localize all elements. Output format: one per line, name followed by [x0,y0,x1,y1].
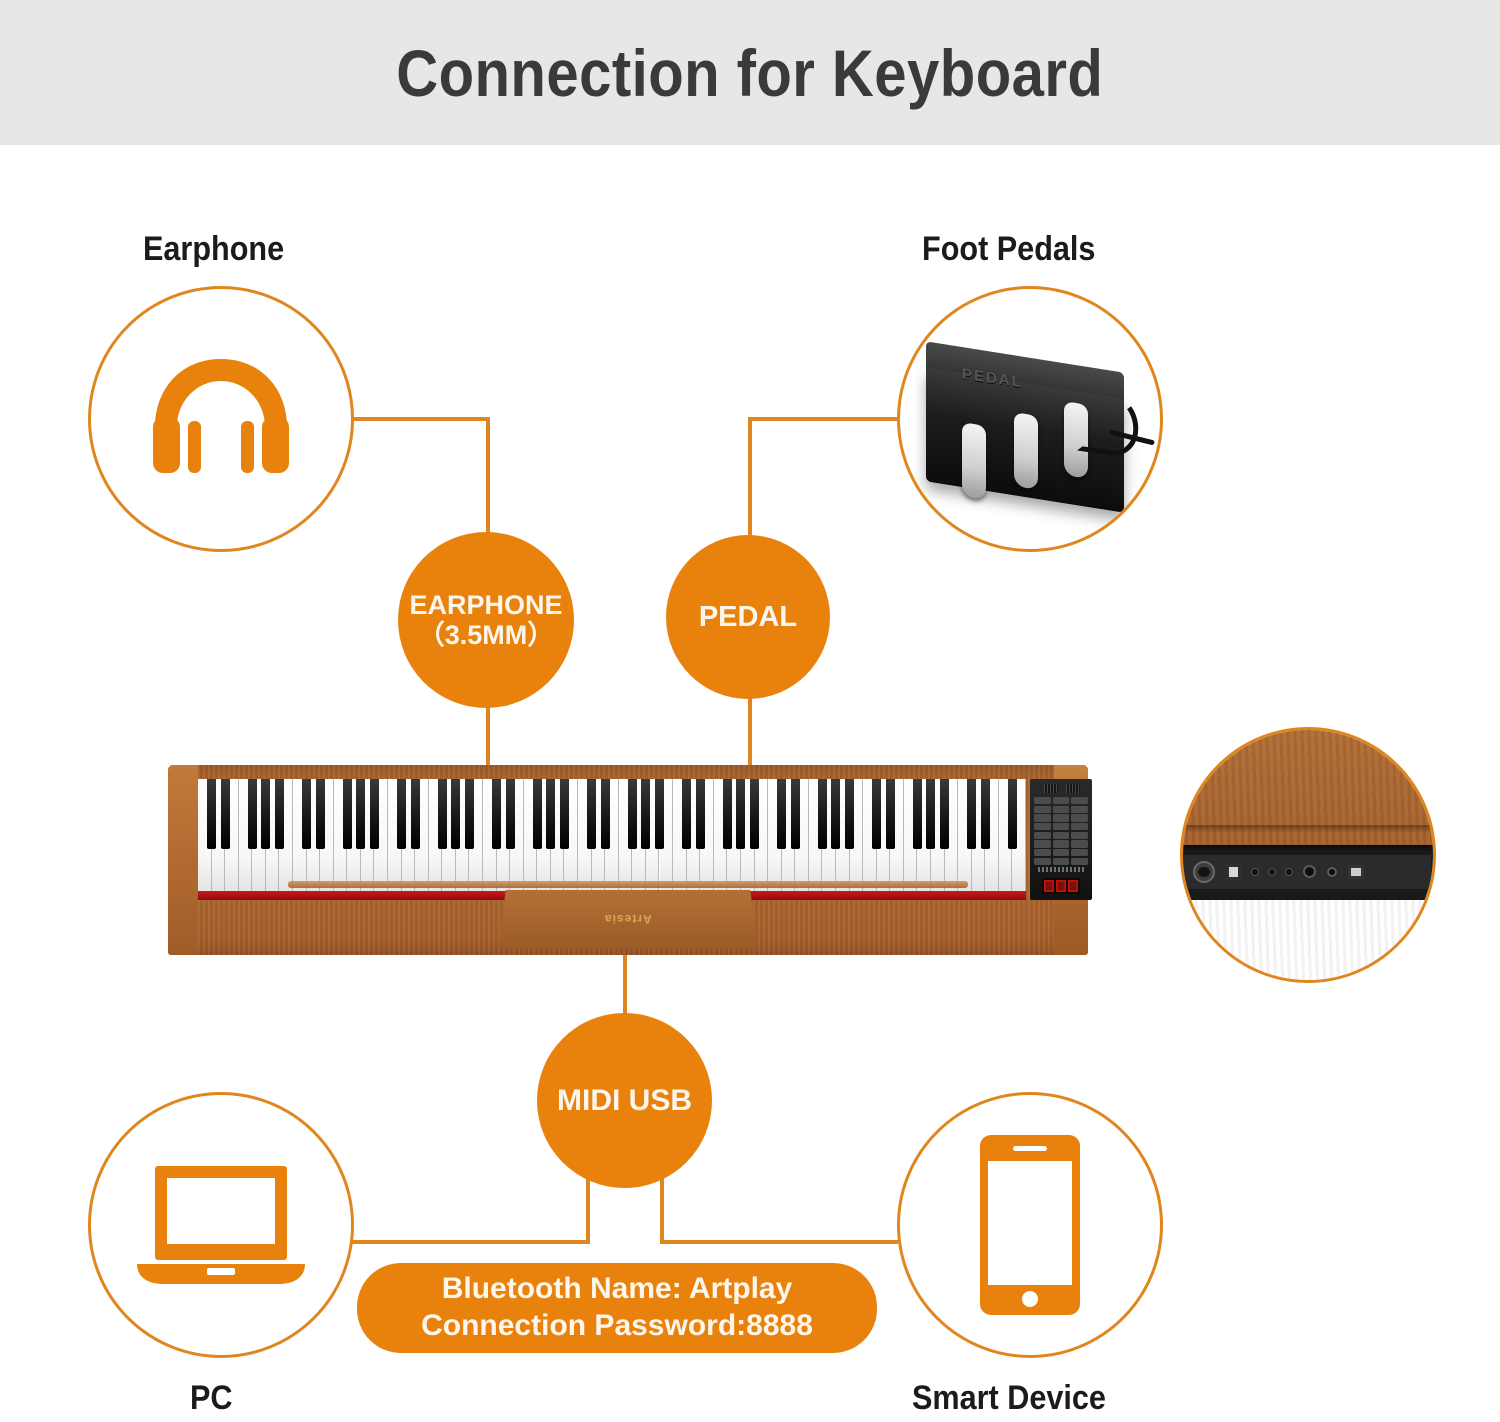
control-panel-button[interactable] [1053,814,1070,821]
piano-black-key[interactable] [560,779,569,849]
piano-brand-logo: Artesia [604,912,652,926]
pedal-pad-center [1014,412,1038,490]
control-panel-button[interactable] [1071,806,1088,813]
control-panel-button[interactable] [1071,797,1088,804]
control-panel-button[interactable] [1034,814,1051,821]
control-panel-button-grid[interactable] [1034,797,1088,865]
foot-pedal-photo: PEDAL [900,289,1160,549]
piano-black-key[interactable] [872,779,881,849]
control-panel-button[interactable] [1034,858,1051,865]
piano-black-key[interactable] [736,779,745,849]
piano-black-key[interactable] [343,779,352,849]
control-panel-button[interactable] [1071,858,1088,865]
speaker-grille-left-icon [1044,784,1058,793]
connector-midi-down-right [660,1178,664,1244]
led-digit [1056,880,1066,892]
pc-node-circle[interactable] [88,1092,354,1358]
piano-black-key[interactable] [207,779,216,849]
badge-midi-usb-port[interactable]: MIDI USB [537,1013,712,1188]
piano-black-key[interactable] [438,779,447,849]
piano-black-key[interactable] [723,779,732,849]
led-digit [1068,880,1078,892]
control-panel-button[interactable] [1034,806,1051,813]
control-panel-button[interactable] [1053,840,1070,847]
piano-black-key[interactable] [221,779,230,849]
piano-black-key[interactable] [533,779,542,849]
digital-piano-keyboard[interactable]: Artesia [168,765,1088,955]
piano-black-key[interactable] [696,779,705,849]
connector-earphone-horizontal [351,417,490,421]
bluetooth-name-text: Bluetooth Name: Artplay [442,1271,793,1308]
rear-io-plate [1180,845,1436,900]
piano-black-key[interactable] [261,779,270,849]
piano-black-key[interactable] [913,779,922,849]
screw-icon [1435,849,1436,857]
rear-io-connector-row [1180,855,1431,889]
badge-earphone-line1: EARPHONE [409,590,562,620]
connector-pedal-down [748,417,752,537]
speaker-grille-right-icon [1066,784,1080,793]
page-title: Connection for Keyboard [396,35,1103,111]
piano-black-key[interactable] [275,779,284,849]
piano-black-key[interactable] [655,779,664,849]
piano-black-key[interactable] [831,779,840,849]
piano-black-key[interactable] [601,779,610,849]
headphones-icon [141,349,301,489]
midi-din-port-icon[interactable] [1193,861,1215,883]
control-panel-button[interactable] [1053,858,1070,865]
badge-midi-usb-label: MIDI USB [557,1084,692,1118]
badge-pedal-label: PEDAL [699,601,797,633]
piano-black-key[interactable] [546,779,555,849]
piano-music-shelf: Artesia [498,890,758,948]
control-panel-button[interactable] [1053,823,1070,830]
piano-black-key[interactable] [397,779,406,849]
rear-panel-shadow [1183,825,1433,833]
bluetooth-password-text: Connection Password:8888 [421,1308,813,1345]
piano-black-key[interactable] [465,779,474,849]
control-panel-button[interactable] [1034,823,1051,830]
header-banner: Connection for Keyboard [0,0,1500,145]
headphone-jack-icon[interactable] [1303,865,1316,878]
screw-hole-icon [1269,869,1275,875]
piano-black-key[interactable] [926,779,935,849]
control-panel-button[interactable] [1071,814,1088,821]
piano-black-key[interactable] [750,779,759,849]
power-port-icon[interactable] [1348,865,1364,879]
screw-hole-icon [1286,869,1292,875]
piano-black-key[interactable] [248,779,257,849]
piano-black-key[interactable] [628,779,637,849]
infographic-canvas: Connection for Keyboard Earphone Foot Pe… [0,0,1500,1422]
screw-icon [1180,888,1181,896]
piano-control-panel[interactable] [1030,779,1092,900]
control-panel-button[interactable] [1034,832,1051,839]
piano-black-key[interactable] [940,779,949,849]
control-panel-brandmark [1038,867,1084,872]
connector-pedal-horizontal [748,417,900,421]
piano-black-key[interactable] [587,779,596,849]
piano-black-key[interactable] [791,779,800,849]
piano-black-key[interactable] [451,779,460,849]
usb-b-port-icon[interactable] [1226,864,1241,880]
foot-pedals-node-circle[interactable]: PEDAL [897,286,1163,552]
piano-black-key[interactable] [886,779,895,849]
piano-keybed[interactable] [198,779,1026,891]
piano-black-key[interactable] [845,779,854,849]
control-panel-button[interactable] [1071,849,1088,856]
smartphone-icon [975,1131,1085,1319]
led-digit [1044,880,1054,892]
smart-device-node-circle[interactable] [897,1092,1163,1358]
piano-left-cheek [168,765,198,955]
control-panel-button[interactable] [1034,797,1051,804]
led-display [1042,878,1080,894]
control-panel-button[interactable] [1034,849,1051,856]
control-panel-button[interactable] [1034,840,1051,847]
badge-earphone-port[interactable]: EARPHONE （3.5MM） [398,532,574,708]
control-panel-button[interactable] [1053,832,1070,839]
control-panel-button[interactable] [1053,806,1070,813]
badge-earphone-line2: （3.5MM） [409,620,562,650]
connector-midi-to-pc [352,1240,590,1244]
control-panel-button[interactable] [1071,840,1088,847]
smart-device-caption: Smart Device [912,1379,1106,1418]
pc-caption: PC [190,1379,233,1418]
connector-midi-down-left [586,1178,590,1244]
pedal-cable-icon [1077,389,1143,458]
piano-black-key[interactable] [356,779,365,849]
pedal-pad-left [962,422,986,500]
piano-shelf-lip [288,881,968,888]
laptop-icon [133,1160,309,1290]
pedal-jack-icon[interactable] [1327,867,1337,877]
piano-black-key[interactable] [777,779,786,849]
control-panel-button[interactable] [1053,849,1070,856]
piano-black-key[interactable] [411,779,420,849]
piano-black-key[interactable] [818,779,827,849]
piano-black-key[interactable] [370,779,379,849]
bluetooth-info-pill: Bluetooth Name: Artplay Connection Passw… [357,1263,877,1353]
piano-black-key[interactable] [492,779,501,849]
control-panel-button[interactable] [1071,823,1088,830]
screw-icon [1435,888,1436,896]
piano-black-key[interactable] [682,779,691,849]
piano-black-key[interactable] [981,779,990,849]
connector-pedal-to-keyboard [748,696,752,770]
connector-keyboard-to-midi [623,948,627,1018]
piano-black-key[interactable] [316,779,325,849]
piano-black-key[interactable] [302,779,311,849]
piano-black-key[interactable] [641,779,650,849]
rear-panel-node-circle[interactable] [1180,727,1436,983]
control-panel-button[interactable] [1071,832,1088,839]
piano-black-key[interactable] [506,779,515,849]
earphone-node-circle[interactable] [88,286,354,552]
badge-pedal-port[interactable]: PEDAL [666,535,830,699]
screw-hole-icon [1252,869,1258,875]
earphone-caption: Earphone [143,230,284,269]
piano-black-key[interactable] [967,779,976,849]
piano-black-key[interactable] [1008,779,1017,849]
screw-icon [1180,849,1181,857]
connector-earphone-down [486,417,490,542]
foot-pedals-caption: Foot Pedals [922,230,1095,269]
connector-earphone-to-keyboard [486,700,490,770]
connector-midi-to-smart-device [660,1240,898,1244]
control-panel-button[interactable] [1053,797,1070,804]
